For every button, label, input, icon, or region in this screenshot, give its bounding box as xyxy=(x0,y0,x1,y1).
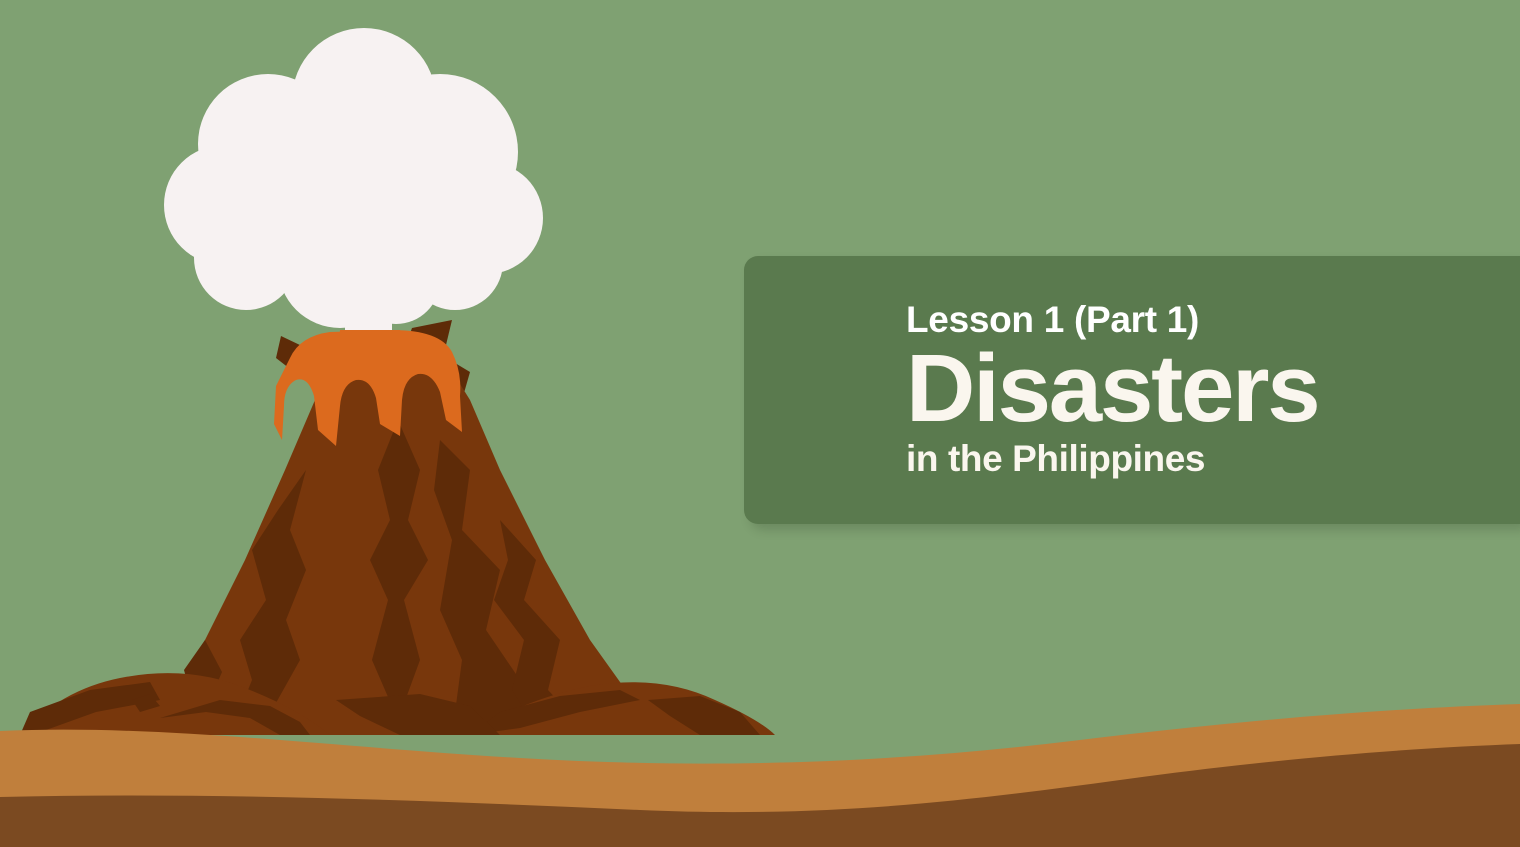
page-title: Disasters xyxy=(906,342,1318,436)
lesson-title-slide: Lesson 1 (Part 1) Disasters in the Phili… xyxy=(0,0,1520,847)
crater-opening xyxy=(338,330,402,352)
page-subtitle: in the Philippines xyxy=(906,440,1205,479)
title-panel: Lesson 1 (Part 1) Disasters in the Phili… xyxy=(744,256,1520,524)
